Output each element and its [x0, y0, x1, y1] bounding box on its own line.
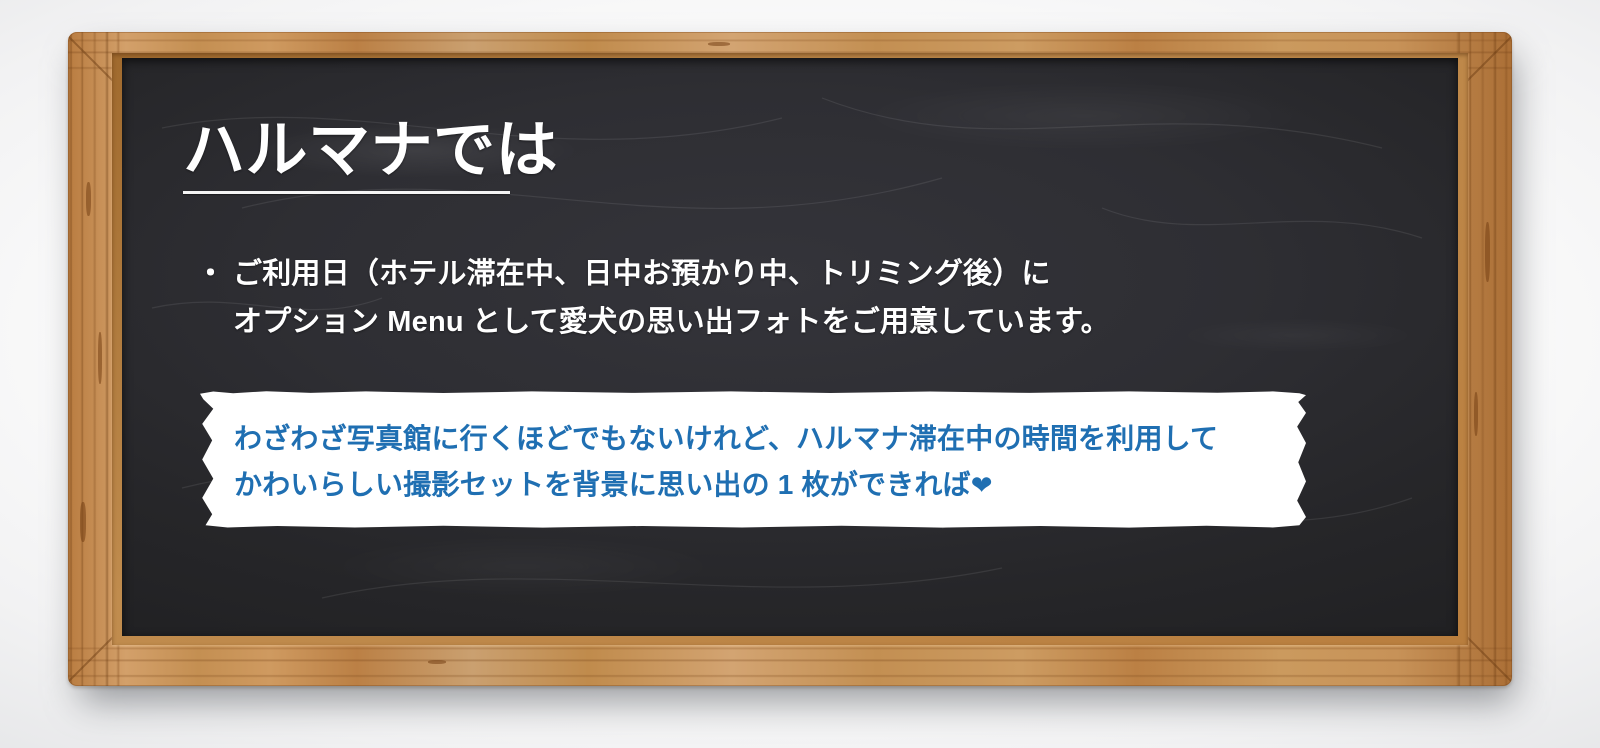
- callout-line: かわいらしい撮影セットを背景に思い出の 1 枚ができれば❤: [234, 462, 1286, 508]
- bullet-line: ご利用日（ホテル滞在中、日中お預かり中、トリミング後）に: [233, 250, 1110, 298]
- wood-knot: [98, 332, 102, 384]
- callout-box: わざわざ写真館に行くほどでもないけれど、ハルマナ滞在中の時間を利用して かわいら…: [200, 391, 1306, 528]
- wood-grain-bottom: [68, 640, 1512, 686]
- wood-knot: [708, 42, 730, 46]
- bullet-line: オプション Menu として愛犬の思い出フォトをご用意しています。: [233, 298, 1110, 346]
- bullet-marker-icon: ・: [196, 250, 225, 298]
- bullet-text-group: ご利用日（ホテル滞在中、日中お預かり中、トリミング後）に オプション Menu …: [233, 250, 1110, 346]
- callout-line-text: かわいらしい撮影セットを背景に思い出の 1 枚ができれば: [234, 469, 971, 500]
- title-underline: [183, 191, 510, 194]
- bullet-item: ・ ご利用日（ホテル滞在中、日中お預かり中、トリミング後）に オプション Men…: [196, 250, 1110, 346]
- page-title-group: ハルマナでは: [183, 118, 558, 194]
- callout-line: わざわざ写真館に行くほどでもないけれど、ハルマナ滞在中の時間を利用して: [234, 416, 1286, 462]
- wood-knot: [80, 502, 86, 542]
- heart-icon: ❤: [971, 470, 993, 500]
- slide-canvas: ハルマナでは ・ ご利用日（ホテル滞在中、日中お預かり中、トリミング後）に オプ…: [0, 0, 1600, 748]
- page-title: ハルマナでは: [183, 118, 558, 183]
- wood-knot: [1474, 392, 1478, 436]
- wood-knot: [86, 182, 91, 216]
- callout-text-group: わざわざ写真館に行くほどでもないけれど、ハルマナ滞在中の時間を利用して かわいら…: [234, 416, 1286, 508]
- wood-knot: [428, 660, 446, 664]
- wood-knot: [1485, 222, 1490, 282]
